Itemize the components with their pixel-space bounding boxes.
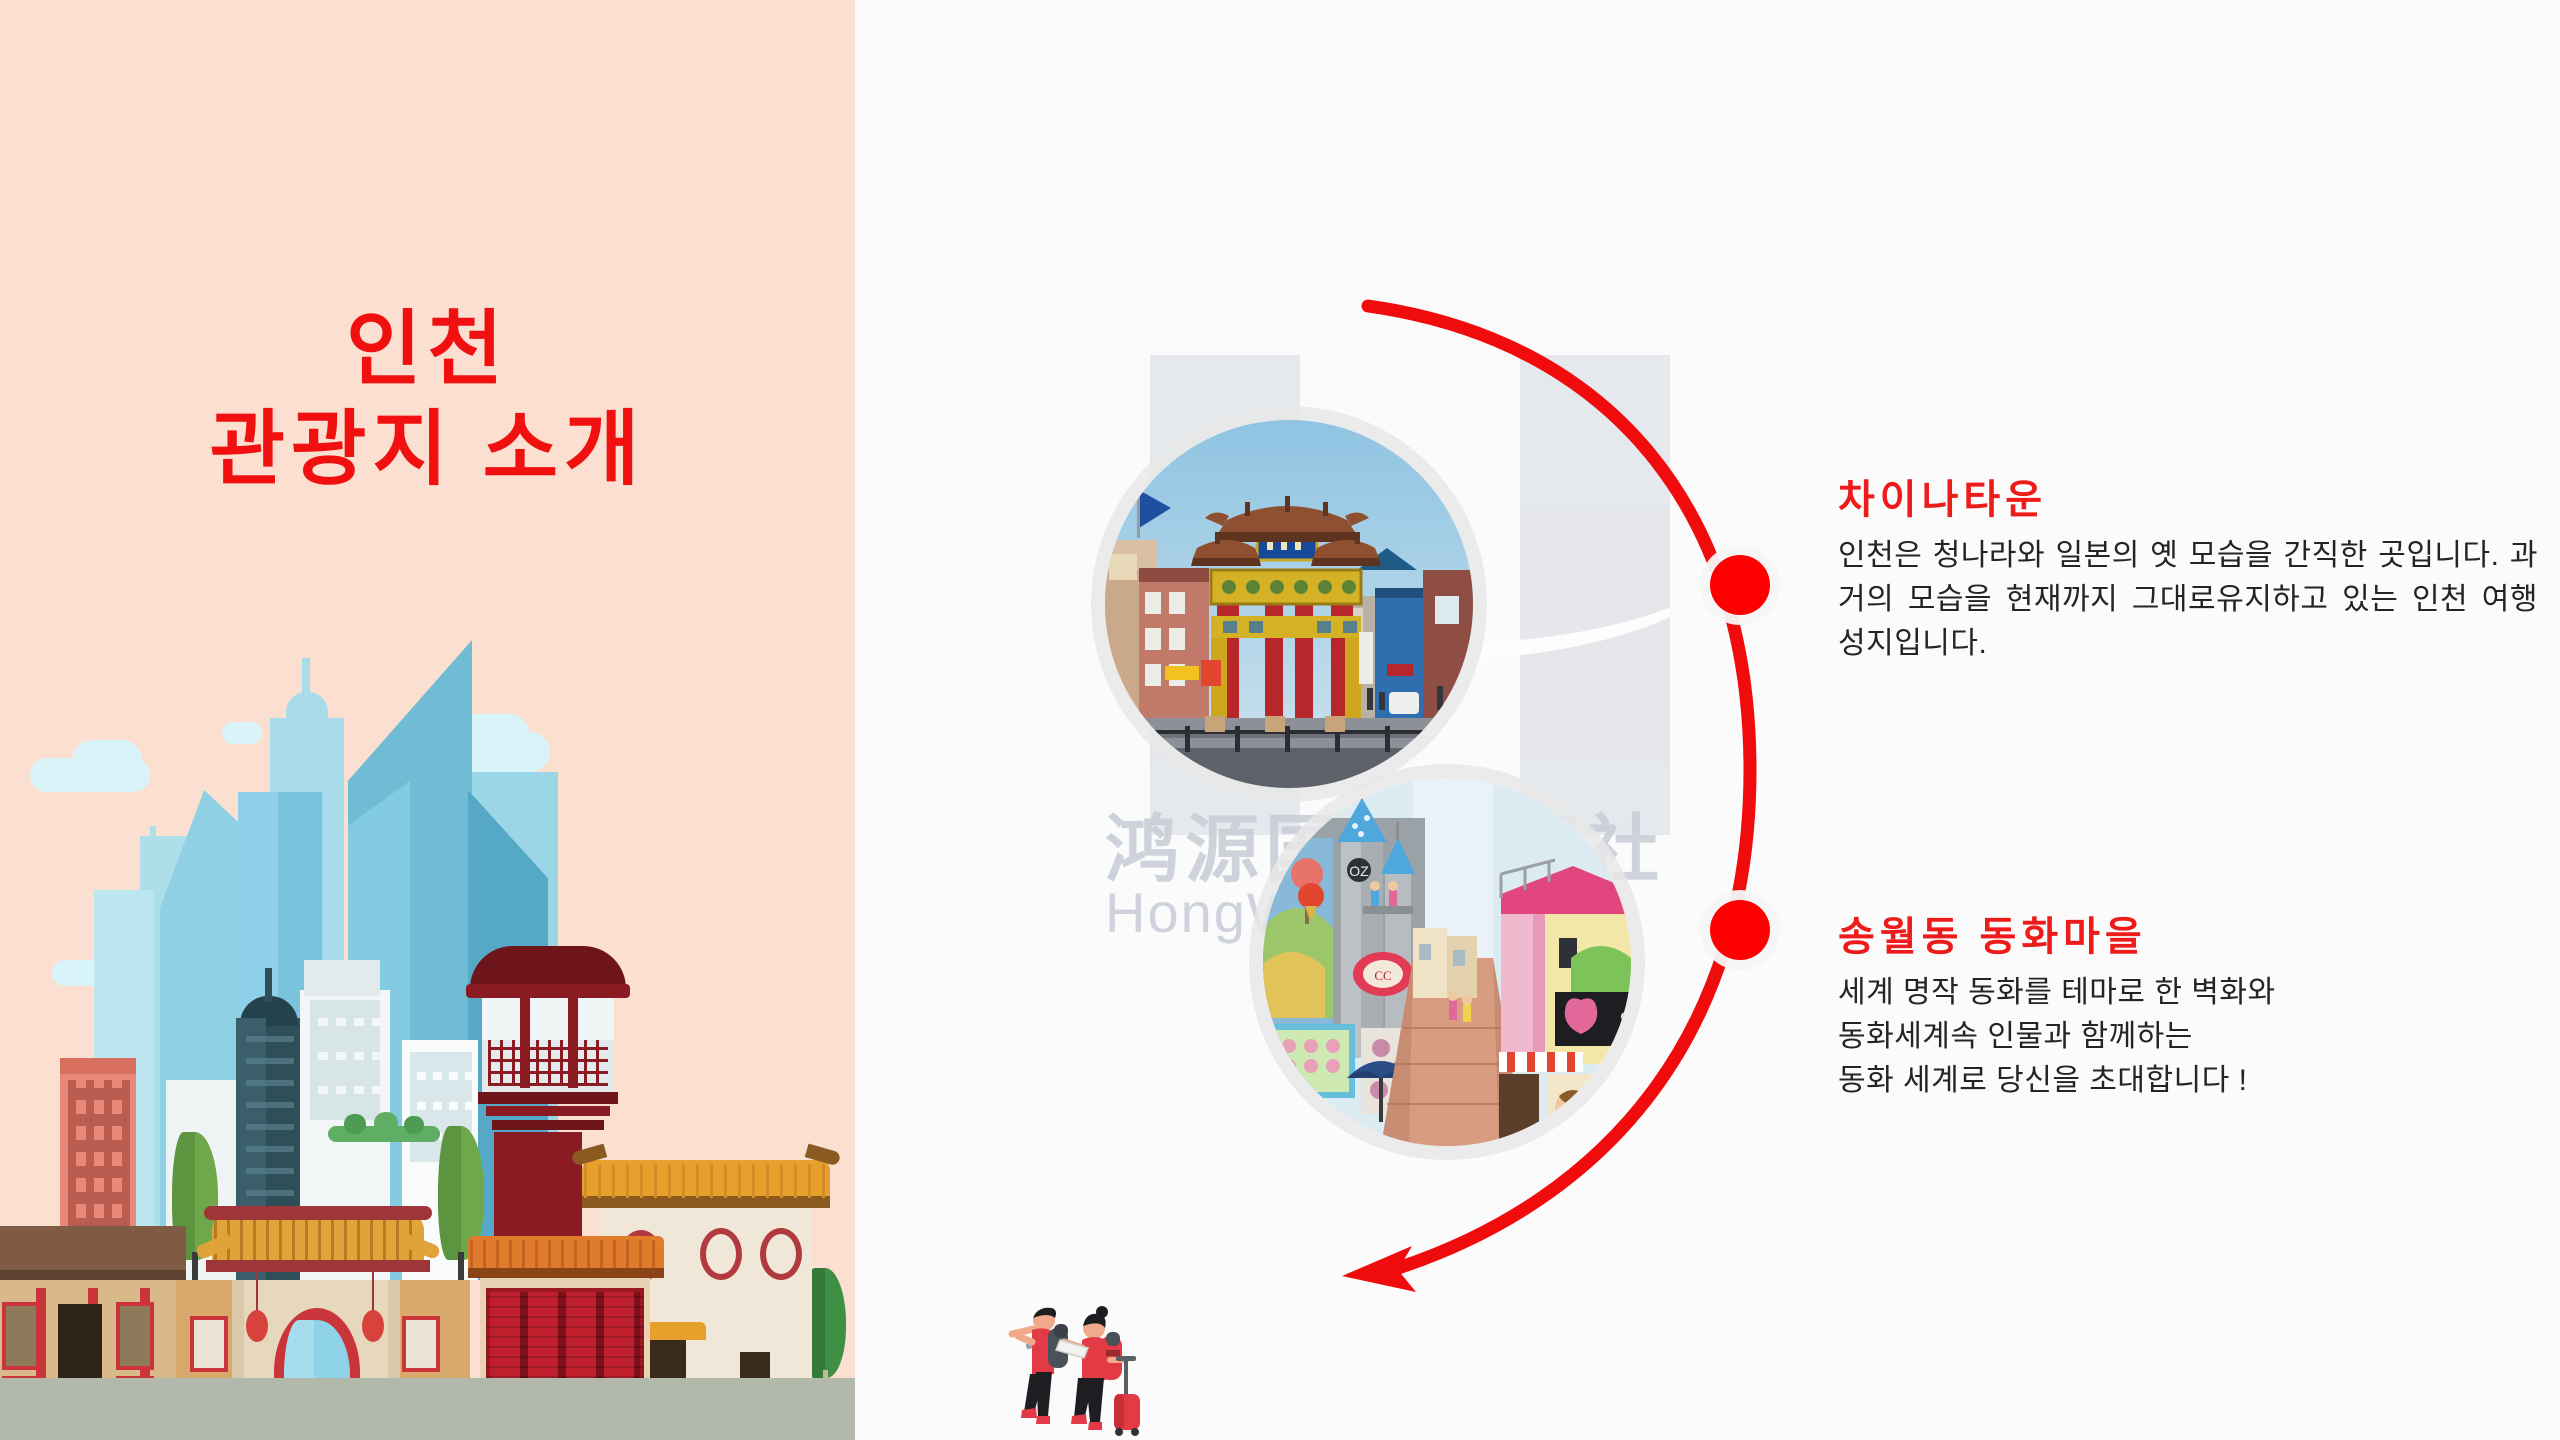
title-line-1: 인천 [0, 300, 855, 400]
tree-icon [438, 1126, 461, 1260]
info-heading-1: 차이나타운 [1838, 478, 2538, 522]
travellers-illustration [992, 1298, 1162, 1440]
gatehouse-roof-eave [206, 1260, 430, 1272]
pavilion-roof-tiles [584, 1164, 828, 1198]
tower-windows [68, 1080, 130, 1230]
lantern-icon [362, 1310, 384, 1342]
skyline-tower [304, 960, 380, 996]
info-heading-2: 송월동 동화마을 [1838, 915, 2538, 959]
info-body-2: 세계 명작 동화를 테마로 한 벽화와 동화세계속 인물과 함께하는 동화 세계… [1838, 971, 2538, 1103]
lantern-icon [246, 1310, 268, 1342]
info-body-1: 인천은 청나라와 일본의 옛 모습을 간직한 곳입니다. 과거의 모습을 현재까… [1838, 534, 2538, 666]
gatehouse-roof-ridge [204, 1206, 432, 1220]
arc-path [1368, 306, 1750, 1270]
shophouse-window [2, 1302, 40, 1370]
skyline-tower [60, 1058, 136, 1074]
shophouse-window [116, 1302, 154, 1370]
skyline-tower [265, 968, 272, 1002]
gatehouse-window [190, 1316, 228, 1372]
watchtower-base [492, 1120, 604, 1130]
lantern-icon [372, 1272, 374, 1312]
gatehouse-roof-tiles [214, 1218, 422, 1262]
connector-arc [1280, 270, 1920, 1330]
cloud-icon [222, 722, 262, 744]
travellers-svg [992, 1298, 1162, 1440]
shophouse-roof-edge [0, 1270, 186, 1280]
watchtower-posts [482, 988, 614, 1088]
slide-canvas: 인천 관광지 소개 [0, 0, 2560, 1440]
info-block-fairytale-village: 송월동 동화마을 세계 명작 동화를 테마로 한 벽화와 동화세계속 인물과 함… [1838, 915, 2538, 1103]
skyline-tower [150, 826, 156, 852]
traveller-woman-icon [1056, 1306, 1140, 1436]
roof-garden [374, 1112, 398, 1134]
page-title: 인천 관광지 소개 [0, 300, 855, 500]
pavilion-window-round [766, 1234, 796, 1274]
watchtower-roof-ridge [466, 984, 630, 998]
info-body-2-line-3: 동화 세계로 당신을 초대합니다 ! [1838, 1064, 2247, 1097]
city-illustration [0, 640, 855, 1440]
shop-roof-tiles [470, 1240, 662, 1270]
lantern-icon [256, 1272, 258, 1312]
cloud-icon [72, 740, 142, 780]
timeline-node-1[interactable] [1710, 555, 1770, 615]
roof-garden [404, 1116, 424, 1134]
timeline-node-2[interactable] [1710, 900, 1770, 960]
shop-roof-shadow [468, 1268, 664, 1278]
pavilion-window-round [706, 1234, 736, 1274]
skyline-tower [302, 658, 310, 700]
gatehouse-window [402, 1316, 440, 1372]
title-line-2: 관광지 소개 [0, 400, 855, 500]
tower-windows [310, 1000, 380, 1120]
left-panel: 인천 관광지 소개 [0, 0, 855, 1440]
roof-garden [344, 1114, 366, 1134]
traveller-man-icon [1012, 1308, 1068, 1424]
shophouse-roof [0, 1226, 186, 1276]
info-body-2-line-2: 동화세계속 인물과 함께하는 [1838, 1020, 2193, 1053]
info-body-2-line-1: 세계 명작 동화를 테마로 한 벽화와 [1838, 976, 2276, 1009]
watchtower-base [478, 1092, 618, 1104]
watchtower-base [486, 1106, 610, 1116]
info-block-chinatown: 차이나타운 인천은 청나라와 일본의 옛 모습을 간직한 곳입니다. 과거의 모… [1838, 478, 2538, 666]
ground-strip [0, 1378, 855, 1440]
